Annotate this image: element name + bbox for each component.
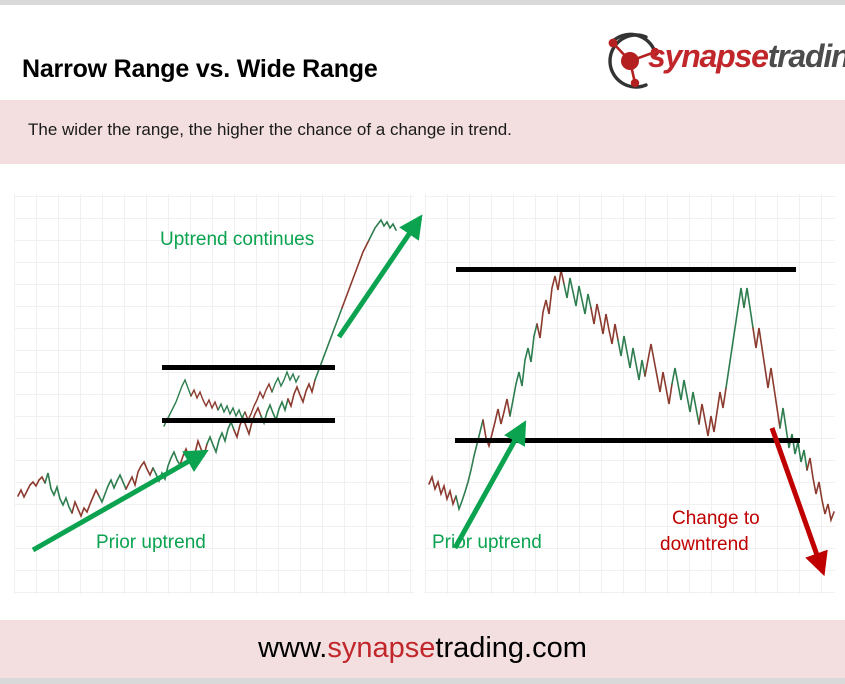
label-change-to: Change to bbox=[672, 507, 760, 531]
footer-url-brand: synapse bbox=[327, 632, 435, 664]
footer-band: www.synapsetrading.com bbox=[0, 620, 845, 678]
logo-word-trading: trading bbox=[768, 38, 845, 74]
footer-website-url[interactable]: www.synapsetrading.com bbox=[0, 632, 845, 665]
narrow-range-price-series bbox=[14, 194, 414, 594]
slide-root: Narrow Range vs. Wide Range synapsetradi… bbox=[0, 0, 845, 684]
label-downtrend: downtrend bbox=[660, 533, 749, 557]
subtitle-text: The wider the range, the higher the chan… bbox=[28, 120, 512, 140]
logo-word-synapse: synapse bbox=[648, 38, 768, 74]
slide-header: Narrow Range vs. Wide Range synapsetradi… bbox=[0, 5, 845, 100]
label-prior-uptrend-left: Prior uptrend bbox=[96, 531, 206, 555]
footer-url-suffix: trading.com bbox=[435, 632, 587, 664]
label-prior-uptrend-right: Prior uptrend bbox=[432, 531, 542, 555]
page-title: Narrow Range vs. Wide Range bbox=[22, 55, 378, 84]
footer-url-prefix: www. bbox=[258, 632, 327, 664]
resistance-line bbox=[162, 365, 335, 370]
label-uptrend-continues: Uptrend continues bbox=[160, 228, 314, 252]
subtitle-band: The wider the range, the higher the chan… bbox=[0, 100, 845, 164]
brand-logo[interactable]: synapsetrading bbox=[600, 30, 835, 92]
brand-logo-wordmark: synapsetrading bbox=[648, 38, 845, 75]
support-line bbox=[162, 418, 335, 423]
resistance-line bbox=[456, 267, 796, 272]
bottom-border-strip bbox=[0, 678, 845, 684]
support-line bbox=[455, 438, 800, 443]
charts-area: Uptrend continues Prior uptrend Prior up… bbox=[0, 164, 845, 620]
narrow-range-chart bbox=[14, 194, 414, 594]
